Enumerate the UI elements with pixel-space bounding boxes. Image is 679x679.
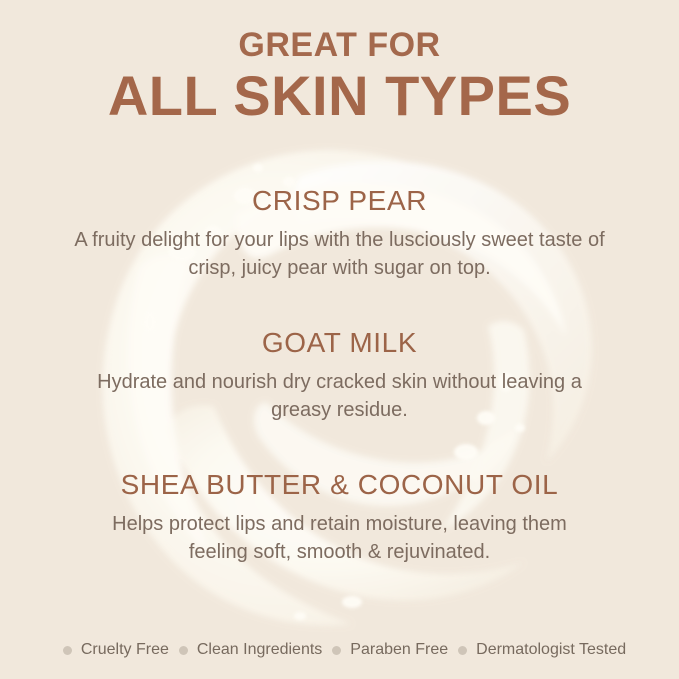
section-description-goat-milk: Hydrate and nourish dry cracked skin wit… [90,368,590,424]
badge-paraben-free: Paraben Free [322,640,448,660]
headline-line-1: GREAT FOR [0,26,679,64]
benefit-section-goat-milk: GOAT MILK Hydrate and nourish dry cracke… [0,326,679,424]
benefit-section-crisp-pear: CRISP PEAR A fruity delight for your lip… [0,184,679,282]
badge-clean-ingredients: Clean Ingredients [169,640,322,660]
badge-dermatologist-tested: Dermatologist Tested [448,640,626,660]
badge-label-cruelty-free: Cruelty Free [81,640,169,660]
badge-cruelty-free: Cruelty Free [53,640,169,660]
bullet-dot-icon [63,646,72,655]
badge-label-paraben-free: Paraben Free [350,640,448,660]
poster-content: GREAT FOR ALL SKIN TYPES CRISP PEAR A fr… [0,0,679,679]
bullet-dot-icon [332,646,341,655]
headline-block: GREAT FOR ALL SKIN TYPES [0,26,679,126]
section-title-shea-butter-coconut-oil: SHEA BUTTER & COCONUT OIL [0,468,679,501]
headline-line-2: ALL SKIN TYPES [0,66,679,126]
certification-badge-row: Cruelty Free Clean Ingredients Paraben F… [0,640,679,660]
section-title-crisp-pear: CRISP PEAR [0,184,679,217]
section-title-goat-milk: GOAT MILK [0,326,679,359]
benefit-section-shea-butter-coconut-oil: SHEA BUTTER & COCONUT OIL Helps protect … [0,468,679,566]
bullet-dot-icon [179,646,188,655]
badge-label-dermatologist-tested: Dermatologist Tested [476,640,626,660]
section-description-shea-butter-coconut-oil: Helps protect lips and retain moisture, … [90,510,590,566]
section-description-crisp-pear: A fruity delight for your lips with the … [60,226,620,282]
product-benefits-poster: GREAT FOR ALL SKIN TYPES CRISP PEAR A fr… [0,0,679,679]
badge-label-clean-ingredients: Clean Ingredients [197,640,322,660]
benefit-sections: CRISP PEAR A fruity delight for your lip… [0,184,679,566]
bullet-dot-icon [458,646,467,655]
